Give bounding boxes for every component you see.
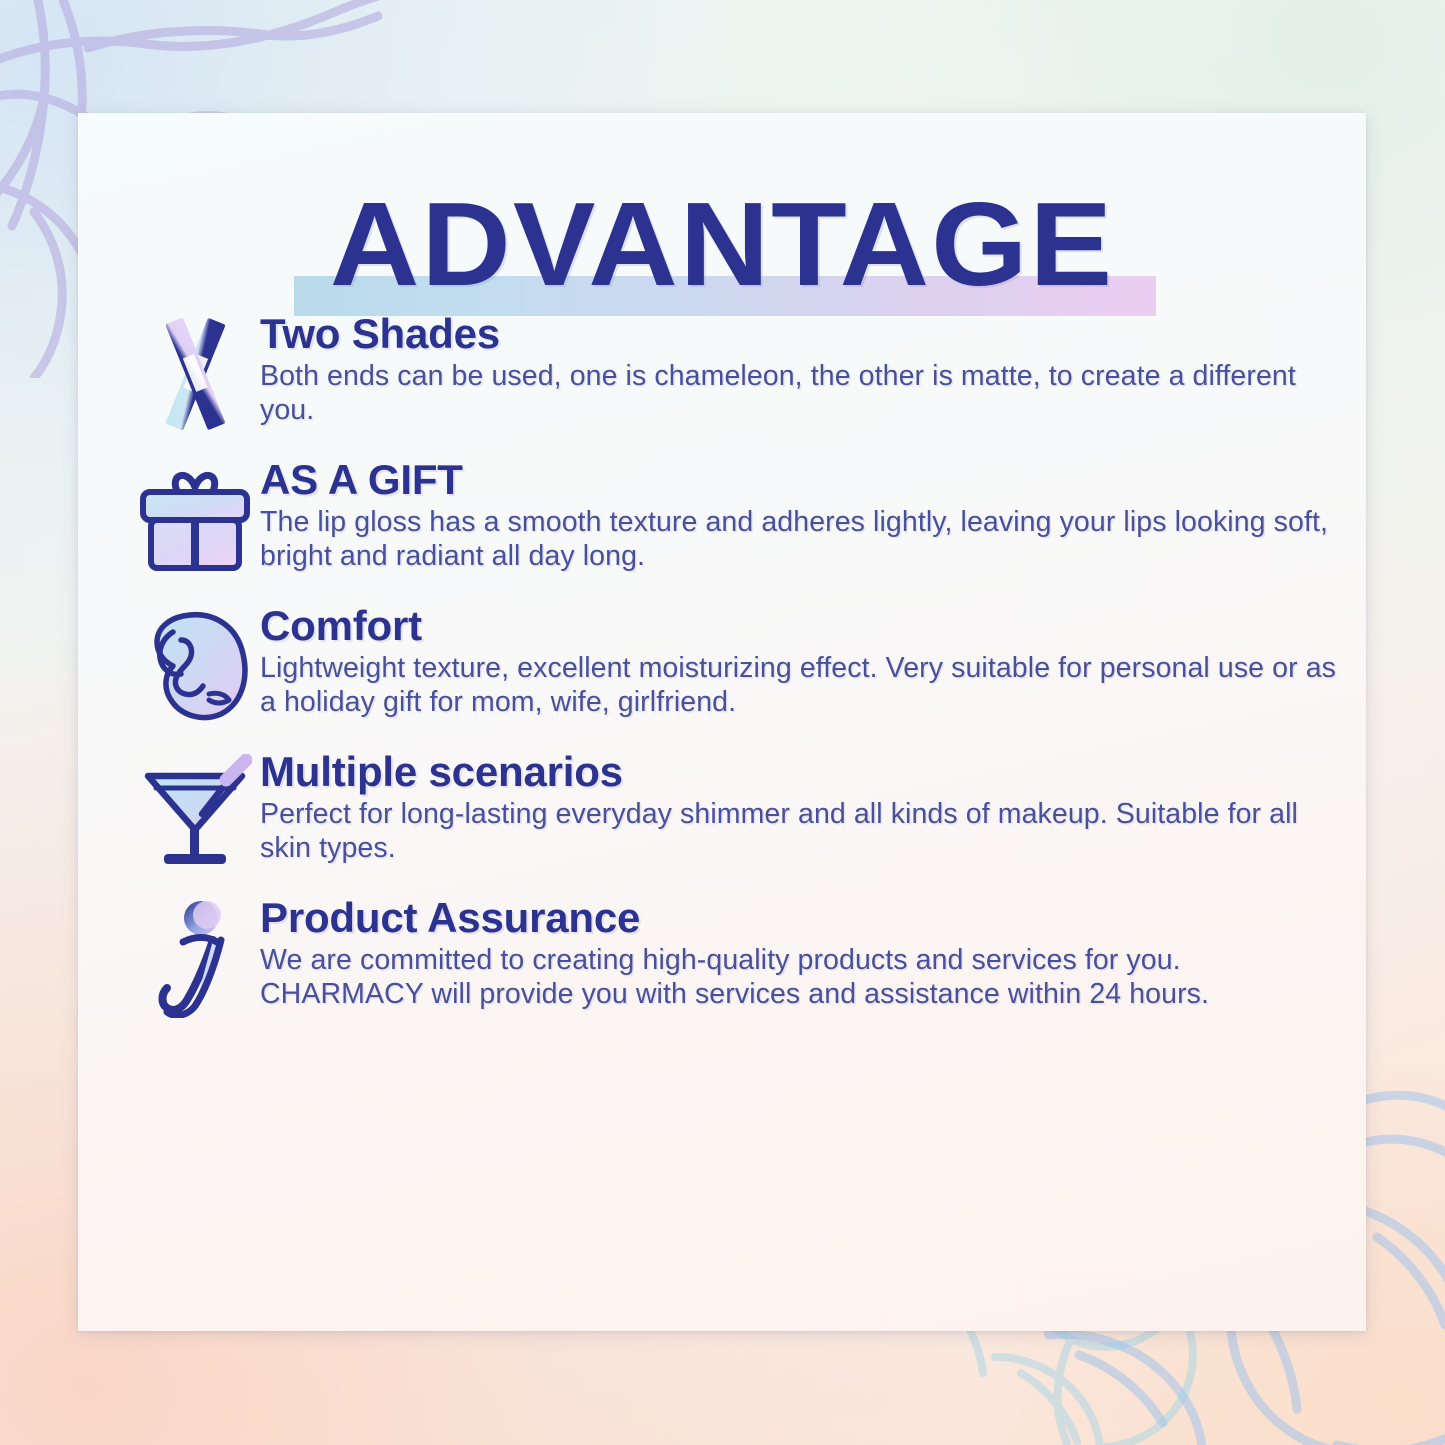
feature-text: Comfort Lightweight texture, excellent m… — [254, 601, 1366, 719]
feature-description: We are committed to creating high-qualit… — [260, 944, 1350, 1011]
feature-description: Both ends can be used, one is chameleon,… — [260, 360, 1350, 427]
feature-item: AS A GIFT The lip gloss has a smooth tex… — [78, 455, 1366, 579]
gift-box-icon — [136, 461, 254, 579]
feature-heading: AS A GIFT — [260, 457, 1366, 502]
feature-description: Lightweight texture, excellent moisturiz… — [260, 652, 1350, 719]
feature-item: Two Shades Both ends can be used, one is… — [78, 309, 1366, 433]
poster-canvas: ADVANTAGE — [0, 0, 1445, 1445]
feature-item: Product Assurance We are committed to cr… — [78, 893, 1366, 1017]
feature-text: Two Shades Both ends can be used, one is… — [254, 309, 1366, 427]
feature-description: The lip gloss has a smooth texture and a… — [260, 506, 1350, 573]
feature-text: Multiple scenarios Perfect for long-last… — [254, 747, 1366, 865]
feature-heading: Comfort — [260, 603, 1366, 648]
page-title: ADVANTAGE — [52, 185, 1392, 304]
feature-text: Product Assurance We are committed to cr… — [254, 893, 1366, 1011]
cocktail-glass-icon — [136, 753, 254, 871]
crossed-lipstick-applicators-icon — [136, 315, 254, 433]
feature-list: Two Shades Both ends can be used, one is… — [78, 303, 1366, 1017]
info-italic-i-icon — [136, 899, 254, 1017]
content-card: ADVANTAGE — [78, 113, 1366, 1331]
woman-face-profile-icon — [136, 607, 254, 725]
feature-description: Perfect for long-lasting everyday shimme… — [260, 798, 1350, 865]
feature-heading: Product Assurance — [260, 895, 1366, 940]
feature-text: AS A GIFT The lip gloss has a smooth tex… — [254, 455, 1366, 573]
title-section: ADVANTAGE — [78, 113, 1366, 303]
feature-item: Multiple scenarios Perfect for long-last… — [78, 747, 1366, 871]
feature-heading: Multiple scenarios — [260, 749, 1366, 794]
feature-heading: Two Shades — [260, 311, 1366, 356]
feature-item: Comfort Lightweight texture, excellent m… — [78, 601, 1366, 725]
